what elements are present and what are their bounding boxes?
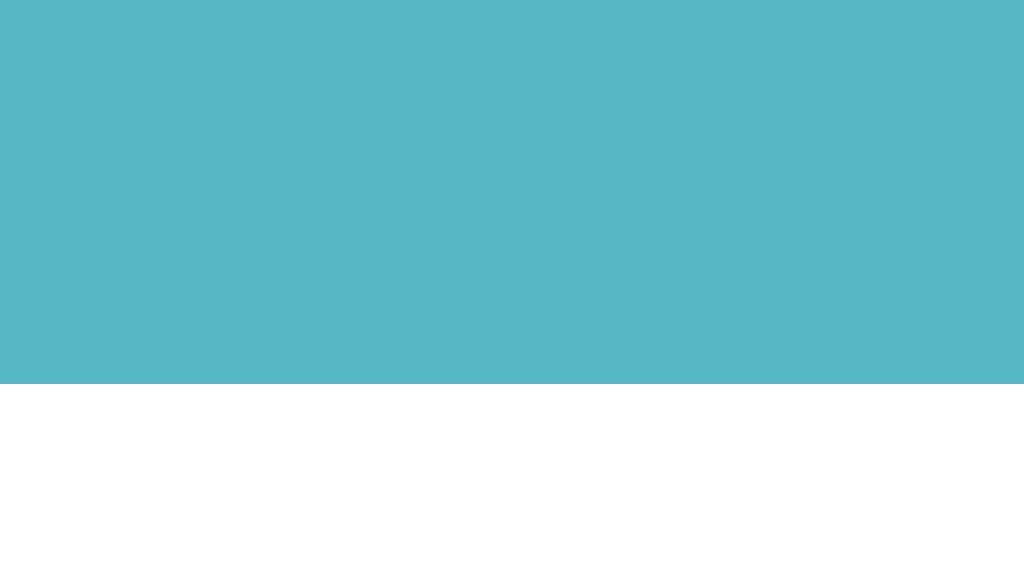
teal-banner [0,0,1024,384]
slide-content-area: CREATING THEIR TOOLBOX Encouraging stude… [0,384,1024,576]
title-slide: CREATING THEIR TOOLBOX Encouraging stude… [0,0,1024,576]
